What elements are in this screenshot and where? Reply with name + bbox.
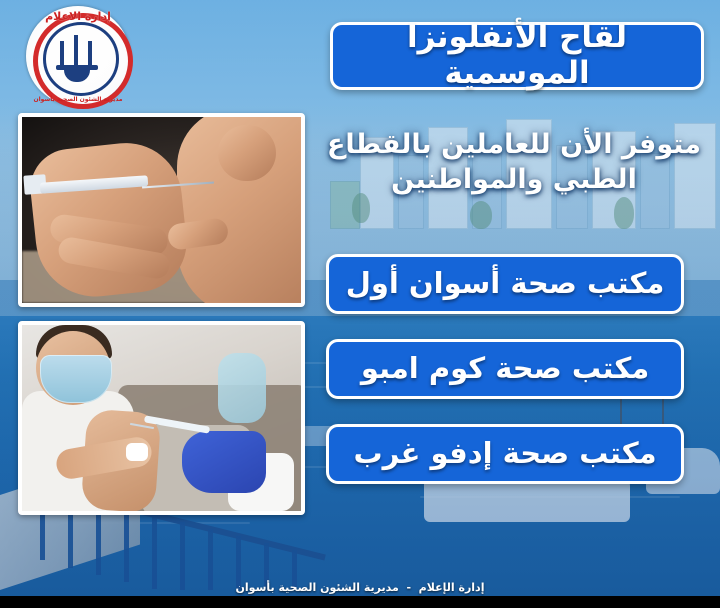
location-item-kom-ombo[interactable]: مكتب صحة كوم امبو [326,339,684,399]
location-item-aswan-first[interactable]: مكتب صحة أسوان أول [326,254,684,314]
photo-b-gloved-hand-back [218,353,266,423]
subtitle-line-1: متوفر الأن للعاملين بالقطاع [318,128,710,163]
location-item-edfu-west[interactable]: مكتب صحة إدفو غرب [326,424,684,484]
photo-a-thumb [218,125,276,181]
footer-separator: - [399,581,419,594]
subtitle-line-2: الطبي والمواطنين [318,163,710,198]
poster-title: لقاح الأنفلونزا الموسمية [330,22,704,90]
photo-syringe-into-arm [18,113,305,307]
emblem-top-text: إدارة الاعلام [26,10,130,23]
footer-credits: إدارة الإعلام - مديرية الشئون الصحية بأس… [0,581,720,594]
photo-b-blue-glove [182,431,266,493]
footer-department: إدارة الإعلام [419,581,485,594]
emblem-center-device [54,31,102,81]
poster-subtitle: متوفر الأن للعاملين بالقطاع الطبي والموا… [318,128,710,197]
emblem-bottom-text: مديرية الشئون الصحية بأسوان [26,96,130,103]
vaccination-poster: إدارة الاعلام مديرية الشئون الصحية بأسوا… [0,0,720,608]
photo-b-cotton-swab [126,443,148,461]
health-media-department-emblem: إدارة الاعلام مديرية الشئون الصحية بأسوا… [26,6,130,106]
bottom-black-bar [0,596,720,608]
photo-masked-man-vaccination [18,321,305,515]
footer-directorate: مديرية الشئون الصحية بأسوان [236,581,399,594]
photo-b-face-mask [40,355,112,403]
